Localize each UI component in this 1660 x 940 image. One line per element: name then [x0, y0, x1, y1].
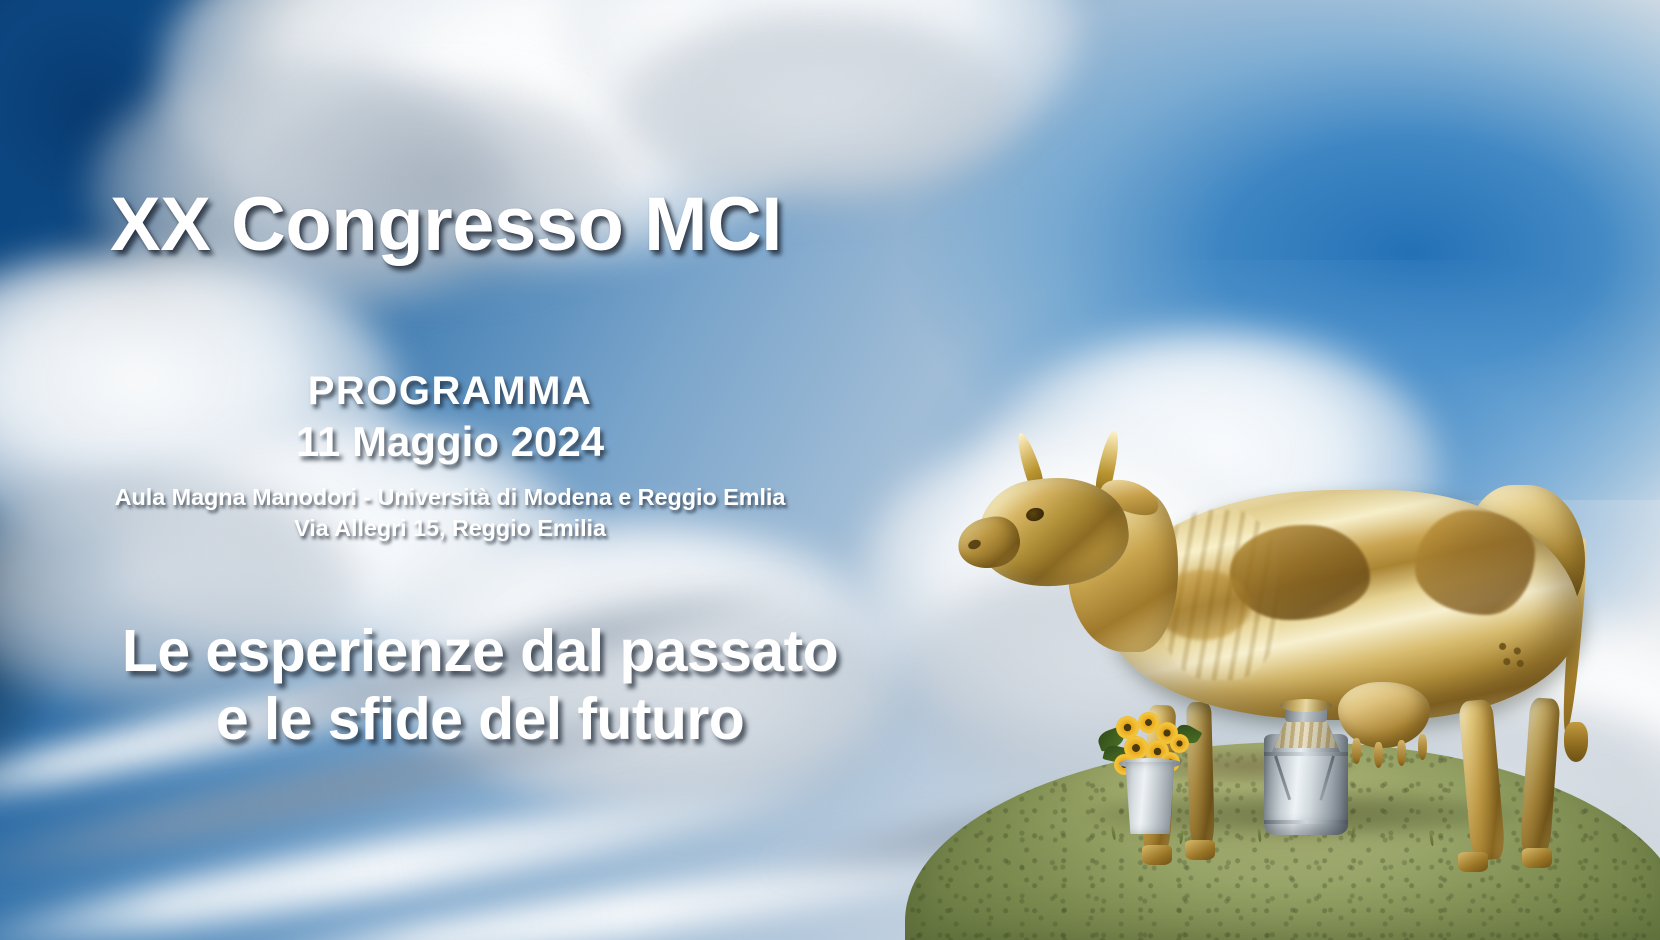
event-date: 11 Maggio 2024 — [0, 416, 900, 469]
program-label: PROGRAMMA — [0, 370, 900, 412]
poster-title: XX Congresso MCI — [110, 181, 782, 268]
poster-text-layer: XX Congresso MCI PROGRAMMA 11 Maggio 202… — [0, 0, 1660, 940]
poster-tagline: Le esperienze dal passato e le sfide del… — [0, 617, 960, 754]
venue-line-2: Via Allegri 15, Reggio Emilia — [0, 513, 900, 544]
congress-poster: XX Congresso MCI PROGRAMMA 11 Maggio 202… — [0, 0, 1660, 940]
venue-block: Aula Magna Manodori - Università di Mode… — [0, 482, 900, 544]
venue-line-1: Aula Magna Manodori - Università di Mode… — [0, 482, 900, 513]
tagline-line-2: e le sfide del futuro — [0, 685, 960, 753]
poster-info-block: PROGRAMMA 11 Maggio 2024 Aula Magna Mano… — [0, 370, 900, 544]
tagline-line-1: Le esperienze dal passato — [122, 618, 838, 684]
